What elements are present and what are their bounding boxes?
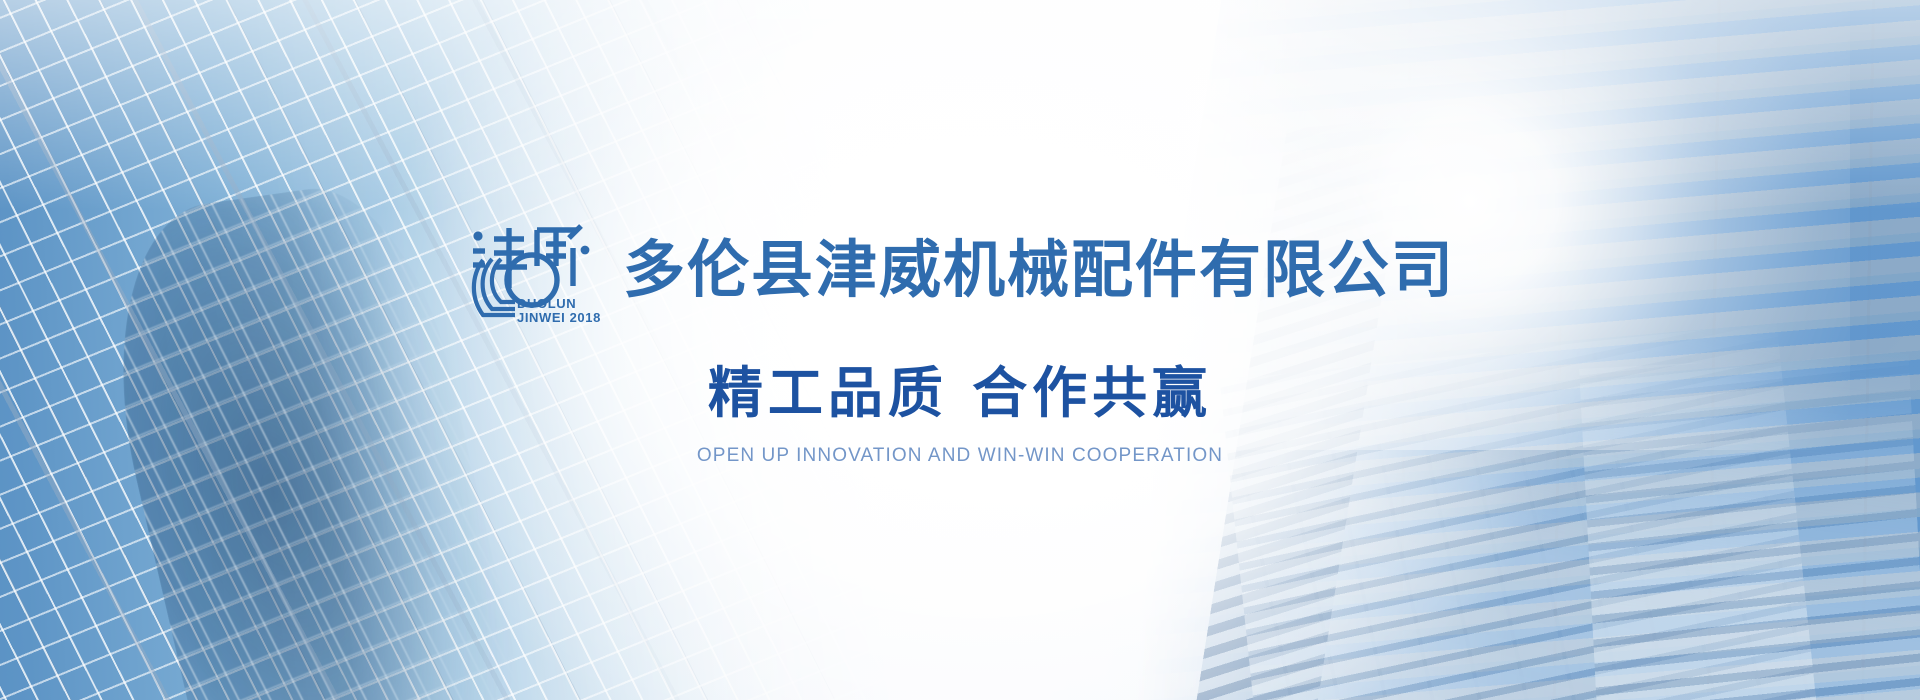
logo-wordmark-duolun: DUOLUN: [517, 296, 576, 311]
jinwei-company-logo-icon: DUOLUN JINWEI 2018: [465, 214, 605, 326]
title-row: DUOLUN JINWEI 2018 多伦县津威机械配件有限公司: [465, 214, 1455, 326]
slogan-english: OPEN UP INNOVATION AND WIN-WIN COOPERATI…: [697, 445, 1223, 467]
logo-wordmark-jinwei-2018: JINWEI 2018: [517, 310, 601, 325]
banner-content: DUOLUN JINWEI 2018 多伦县津威机械配件有限公司 精工品质 合作…: [0, 0, 1920, 700]
slogan-chinese: 精工品质 合作共赢: [708, 366, 1212, 421]
company-name: 多伦县津威机械配件有限公司: [623, 239, 1455, 301]
hero-banner: DUOLUN JINWEI 2018 多伦县津威机械配件有限公司 精工品质 合作…: [0, 0, 1920, 700]
